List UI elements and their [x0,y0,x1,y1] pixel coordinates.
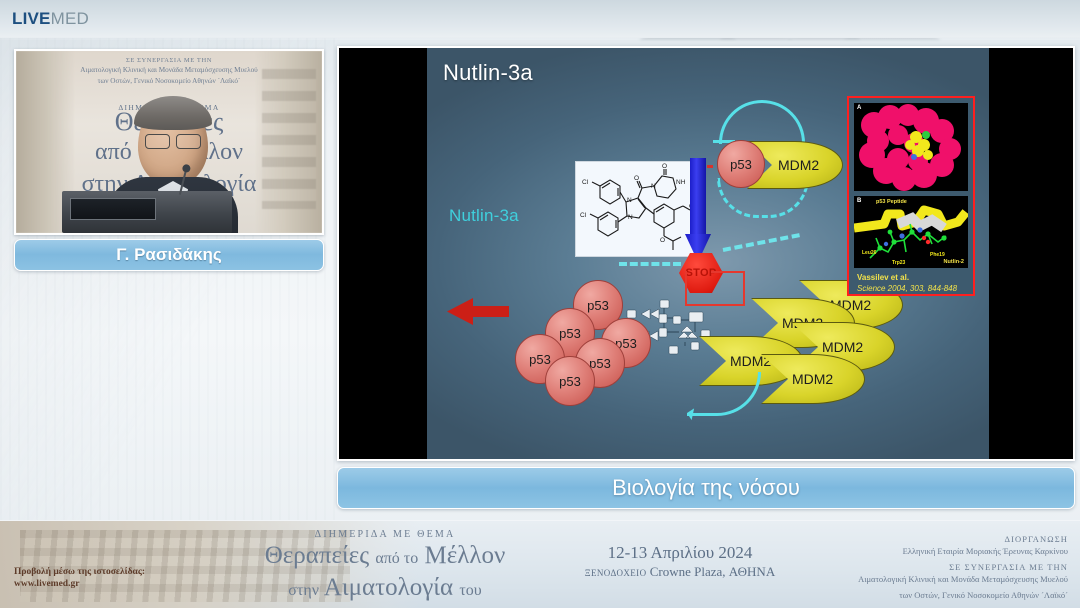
p53-ball: p53 [545,356,595,406]
atom-label-n3: N [651,183,656,190]
red-left-arrow [447,298,509,324]
p53-label: p53 [587,298,609,313]
mdm2-label: MDM2 [822,339,863,355]
cyan-dashed-right [723,233,800,252]
slide-title: Nutlin-3a [443,60,533,86]
website-note-line1: Προβολή μέσω της ιστοσελίδας: [14,566,145,578]
footer-title-line2: στην Αιματολογία του Σήμερα [250,573,520,608]
cyan-recycle-arrow [687,372,761,416]
inset-panel-a: A [854,103,968,191]
footer-title-word3: Μέλλον [424,542,505,569]
website-note: Προβολή μέσω της ιστοσελίδας: www.liveme… [14,566,145,590]
red-arrow-body [469,306,509,317]
inset-nutlin-tag: Nutlin-2 [944,259,964,265]
peptide-ribbon-render: Leu26 Trp23 Phe19 [854,196,968,268]
collaboration-label: ΣΕ ΣΥΝΕΡΓΑΣΙΑ ΜΕ ΤΗΝ [798,561,1068,573]
speaker-video-panel[interactable]: ΣΕ ΣΥΝΕΡΓΑΣΙΑ ΜΕ ΤΗΝ Αιματολογική Κλινικ… [14,49,324,235]
inset-residue-phe19: Phe19 [930,252,945,258]
blue-down-arrow [685,158,711,263]
nutlin-chemical-structure: Cl Cl N N N NH O O O O [576,162,699,256]
footer-title-word6: του [459,582,481,599]
footer-theme-label: ΔΙΗΜΕΡΙΔΑ ΜΕ ΘΕΜΑ [250,529,520,540]
p53-label: p53 [559,326,581,341]
footer-title-word4: στην [288,582,319,599]
venue-prefix: ΞΕΝΟΔΟΧΕΙΟ [585,568,647,578]
nutlin-structure-box: Cl Cl N N N NH O O O O [575,161,700,257]
banner-collab-line2: των Οστών, Γενικό Νοσοκομείο Αθηνών ´Λαϊ… [16,77,322,86]
banner-collab-label: ΣΕ ΣΥΝΕΡΓΑΣΙΑ ΜΕ ΤΗΝ [16,57,322,64]
footer-title-line1: Θεραπείες από το Μέλλον [250,541,520,573]
footer-title-word2: από το [375,550,418,567]
website-note-line2[interactable]: www.livemed.gr [14,578,145,590]
podium [62,191,232,233]
organizer-label: ΔΙΟΡΓΑΝΩΣΗ [798,533,1068,545]
slide-panel[interactable]: Nutlin-3a MDM2 p53 Nutlin-3a [337,46,1075,461]
footer-title-word5: Αιματολογία [324,574,453,601]
inset-panel-a-tag: A [857,105,861,111]
inset-panel-b-tag: B [857,198,861,204]
p53-cluster: p53 p53 p53 p53 p53 p53 [515,280,665,400]
inset-panel-b: Leu26 Trp23 Phe19 B p53 Peptide Nutlin-2 [854,196,968,268]
footer-date-venue: 12-13 Απριλίου 2024 ΞΕΝΟΔΟΧΕΙΟ Crowne Pl… [560,543,800,580]
red-arrow-head [447,298,473,325]
event-date: 12-13 Απριλίου 2024 [560,543,800,563]
podium-monitor [70,198,156,220]
inset-citation: Vassilev et al. Science 2004, 303, 844-8… [854,272,968,294]
stop-sign-label: STOP [686,267,717,279]
speaker-glasses [145,134,201,147]
atom-label-n1: N [627,197,632,204]
atom-label-cl1: Cl [582,179,589,186]
venue-name: Crowne Plaza, ΑΘΗΝΑ [650,564,775,579]
speaker-nameplate: Γ. Ρασιδάκης [14,239,324,271]
logo-med-text: MED [51,9,89,28]
slide-caption-bar: Βιολογία της νόσου [337,467,1075,509]
inset-residue-leu26: Leu26 [862,250,877,256]
inset-peptide-tag: p53 Peptide [876,199,907,205]
logo-live-text: LIVE [12,9,51,28]
arrow-shaft [690,158,706,236]
p53-bound-label: p53 [730,157,752,172]
webcast-page: LIVEMED ΣΕ ΣΥΝΕΡΓΑΣΙΑ ΜΕ ΤΗΝ Αιματολογικ… [0,0,1080,608]
banner-collab-line1: Αιματολογική Κλινική και Μονάδα Μεταμόσχ… [16,66,322,75]
inset-residue-trp23: Trp23 [892,260,906,266]
protein-surface-render [854,103,968,191]
top-bar: LIVEMED [0,0,1080,38]
footer-title-word1: Θεραπείες [265,542,369,569]
nutlin-label: Nutlin-3a [449,206,519,226]
speaker-hair [134,96,212,130]
mdm2-label: MDM2 [792,371,833,387]
p53-label: p53 [559,374,581,389]
footer-organizers: ΔΙΟΡΓΑΝΩΣΗ Ελληνική Εταιρία Μοριακής Έρε… [798,533,1068,605]
citation-source: Science 2004, 303, 844-848 [857,283,968,294]
p53-ball-bound: p53 [717,140,765,188]
p53-label: p53 [529,352,551,367]
event-venue: ΞΕΝΟΔΟΧΕΙΟ Crowne Plaza, ΑΘΗΝΑ [560,564,800,580]
atom-label-cl2: Cl [580,212,587,219]
atom-label-o2: O [662,163,667,170]
cyan-dashed-left [619,262,681,266]
mdm2-bound-label: MDM2 [778,157,819,173]
collaboration-line1: Αιματολογική Κλινική και Μονάδα Μεταμόσχ… [798,573,1068,585]
p53-label: p53 [589,356,611,371]
collaboration-line2: των Οστών, Γενικό Νοσοκομείο Αθηνών ´Λαϊ… [798,589,1068,601]
citation-authors: Vassilev et al. [857,272,968,283]
stop-connector-h [711,271,745,273]
footer-event-title: ΔΙΗΜΕΡΙΔΑ ΜΕ ΘΕΜΑ Θεραπείες από το Μέλλο… [250,529,520,608]
livemed-logo[interactable]: LIVEMED [12,9,89,29]
atom-label-n2: N [628,214,633,221]
slide-canvas: Nutlin-3a MDM2 p53 Nutlin-3a [427,48,989,459]
organizer-name: Ελληνική Εταιρία Μοριακής Έρευνας Καρκίν… [798,545,1068,557]
footer-banner: Προβολή μέσω της ιστοσελίδας: www.liveme… [0,520,1080,608]
atom-label-o1: O [634,175,639,182]
slide-caption-text: Βιολογία της νόσου [612,475,800,501]
publication-inset-figure: A [847,96,975,296]
atom-label-o4: O [660,237,665,244]
speaker-name-text: Γ. Ρασιδάκης [116,245,221,265]
